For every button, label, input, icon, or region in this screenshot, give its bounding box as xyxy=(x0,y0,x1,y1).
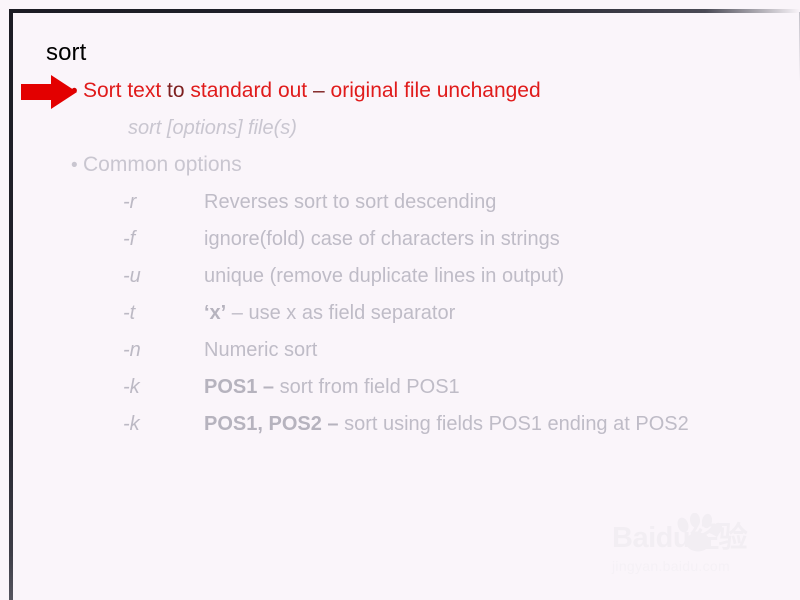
option-description-bold: POS1 – xyxy=(204,376,274,398)
option-row: -u unique (remove duplicate lines in out… xyxy=(123,264,783,301)
main-bullet-segment-2: to xyxy=(161,79,190,102)
option-row: -r Reverses sort to sort descending xyxy=(123,190,783,227)
option-description: POS1, POS2 – sort using fields POS1 endi… xyxy=(204,412,689,436)
option-description-text: sort using fields POS1 ending at POS2 xyxy=(339,413,689,435)
option-row: -k POS1, POS2 – sort using fields POS1 e… xyxy=(123,412,783,449)
common-options-line: •Common options xyxy=(71,152,242,179)
option-flag: -n xyxy=(123,338,204,362)
syntax-usage-line: sort [options] file(s) xyxy=(128,116,297,140)
main-bullet-segment-5: original file unchanged xyxy=(331,79,541,102)
page-title: sort xyxy=(46,39,86,67)
option-description-text: sort from field POS1 xyxy=(274,376,460,398)
common-options-label: Common options xyxy=(83,153,242,176)
option-flag: -u xyxy=(123,264,204,288)
option-flag: -k xyxy=(123,375,204,399)
option-flag: -k xyxy=(123,412,204,436)
main-bullet-segment-4: – xyxy=(307,79,330,102)
option-description: unique (remove duplicate lines in output… xyxy=(204,264,564,288)
option-row: -k POS1 – sort from field POS1 xyxy=(123,375,783,412)
option-description-text: – use x as field separator xyxy=(226,302,455,324)
main-bullet-segment-3: standard out xyxy=(190,79,307,102)
bullet-dot-icon: • xyxy=(71,153,83,179)
option-description-bold: POS1, POS2 – xyxy=(204,413,339,435)
option-description: ignore(fold) case of characters in strin… xyxy=(204,227,560,251)
option-description-text: unique (remove duplicate lines in output… xyxy=(204,265,564,287)
slide-canvas: sort •Sort text to standard out – origin… xyxy=(0,0,800,600)
options-list: -r Reverses sort to sort descending -f i… xyxy=(123,190,783,449)
option-row: -f ignore(fold) case of characters in st… xyxy=(123,227,783,264)
main-bullet-line: •Sort text to standard out – original fi… xyxy=(71,78,541,105)
option-flag: -f xyxy=(123,227,204,251)
option-flag: -t xyxy=(123,301,204,325)
option-row: -n Numeric sort xyxy=(123,338,783,375)
option-flag: -r xyxy=(123,190,204,214)
main-bullet-segment-1: Sort text xyxy=(83,79,161,102)
option-row: -t ‘x’ – use x as field separator xyxy=(123,301,783,338)
option-description-bold: ‘x’ xyxy=(204,302,226,324)
option-description: ‘x’ – use x as field separator xyxy=(204,301,455,325)
option-description-text: Numeric sort xyxy=(204,339,317,361)
option-description: Reverses sort to sort descending xyxy=(204,190,496,214)
option-description: Numeric sort xyxy=(204,338,317,362)
option-description-text: Reverses sort to sort descending xyxy=(204,191,496,213)
slide-content: sort •Sort text to standard out – origin… xyxy=(13,13,800,600)
option-description-text: ignore(fold) case of characters in strin… xyxy=(204,228,560,250)
bullet-dot-icon: • xyxy=(71,79,83,105)
option-description: POS1 – sort from field POS1 xyxy=(204,375,460,399)
